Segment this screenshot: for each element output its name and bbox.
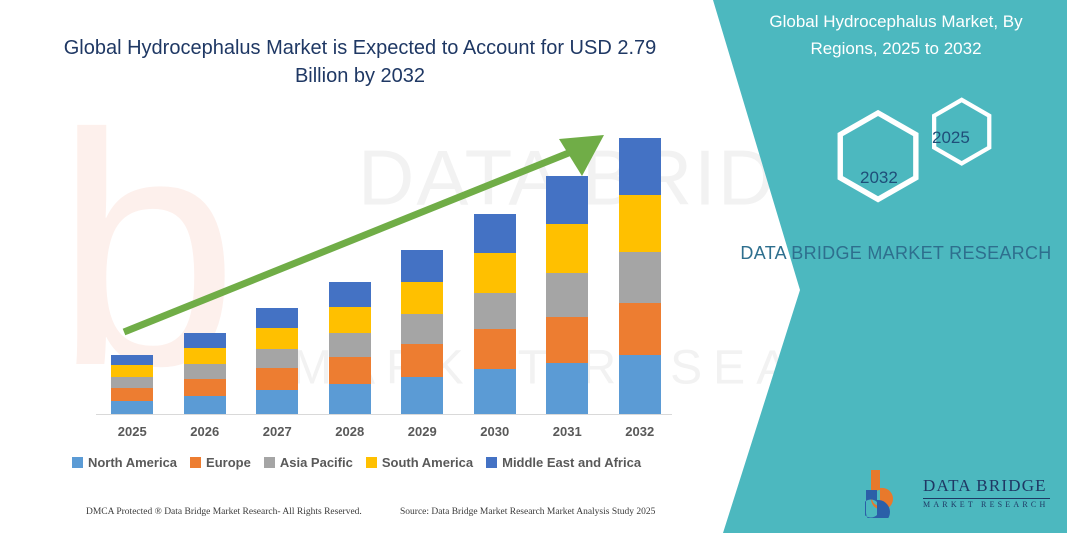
bar-segment[interactable]	[619, 195, 661, 252]
bar-segment[interactable]	[474, 329, 516, 369]
logo-divider	[923, 498, 1050, 499]
legend-item[interactable]: Asia Pacific	[264, 455, 353, 470]
bar-segment[interactable]	[111, 365, 153, 377]
chart-x-axis-line	[96, 414, 672, 415]
legend-item[interactable]: South America	[366, 455, 473, 470]
bar-segment[interactable]	[111, 388, 153, 401]
bar-column-2032[interactable]	[619, 138, 661, 415]
hexagon-label-2032: 2032	[860, 168, 898, 188]
chart-panel: Global Hydrocephalus Market is Expected …	[0, 0, 713, 533]
bar-column-2029[interactable]	[401, 250, 443, 415]
chart-legend: North AmericaEuropeAsia PacificSouth Ame…	[0, 455, 713, 470]
bar-segment[interactable]	[619, 252, 661, 302]
bar-segment[interactable]	[256, 328, 298, 349]
bar-segment[interactable]	[401, 314, 443, 344]
bar-segment[interactable]	[474, 253, 516, 292]
logo-title: DATA BRIDGE	[923, 476, 1047, 496]
panel-brand-text: DATA BRIDGE MARKET RESEARCH	[740, 240, 1052, 267]
hexagon-label-2025: 2025	[932, 128, 970, 148]
bar-column-2031[interactable]	[546, 176, 588, 415]
right-panel-content: Global Hydrocephalus Market, By Regions,…	[740, 0, 1067, 533]
data-bridge-logo: DATA BRIDGE MARKET RESEARCH	[865, 468, 1065, 522]
footer-source-note: Source: Data Bridge Market Research Mark…	[400, 507, 655, 517]
bar-segment[interactable]	[184, 396, 226, 415]
chart-plot-area	[96, 120, 676, 415]
bar-segment[interactable]	[256, 349, 298, 368]
bar-segment[interactable]	[619, 303, 661, 355]
chart-title: Global Hydrocephalus Market is Expected …	[60, 34, 660, 90]
logo-subtitle: MARKET RESEARCH	[923, 500, 1048, 509]
x-axis-label-2026: 2026	[169, 424, 241, 439]
x-axis-label-2028: 2028	[314, 424, 386, 439]
legend-label: North America	[88, 455, 177, 470]
legend-item[interactable]: North America	[72, 455, 177, 470]
bar-segment[interactable]	[184, 379, 226, 396]
bar-column-2028[interactable]	[329, 282, 371, 415]
bar-column-2025[interactable]	[111, 355, 153, 415]
legend-label: South America	[382, 455, 473, 470]
x-axis-label-2030: 2030	[459, 424, 531, 439]
bar-segment[interactable]	[546, 273, 588, 317]
bar-segment[interactable]	[546, 363, 588, 415]
legend-label: Asia Pacific	[280, 455, 353, 470]
bar-segment[interactable]	[474, 369, 516, 415]
legend-label: Middle East and Africa	[502, 455, 641, 470]
x-axis-label-2031: 2031	[531, 424, 603, 439]
x-axis-label-2025: 2025	[96, 424, 168, 439]
bar-segment[interactable]	[474, 214, 516, 253]
bar-segment[interactable]	[546, 176, 588, 224]
bar-segment[interactable]	[184, 333, 226, 348]
bar-segment[interactable]	[329, 307, 371, 333]
x-axis-label-2027: 2027	[241, 424, 313, 439]
bar-segment[interactable]	[474, 293, 516, 329]
legend-item[interactable]: Middle East and Africa	[486, 455, 641, 470]
footer-dmca-notice: DMCA Protected ® Data Bridge Market Rese…	[86, 507, 362, 517]
bar-segment[interactable]	[401, 344, 443, 377]
bar-column-2030[interactable]	[474, 214, 516, 415]
bar-segment[interactable]	[546, 317, 588, 363]
bar-segment[interactable]	[329, 357, 371, 384]
bar-column-2027[interactable]	[256, 308, 298, 415]
bar-segment[interactable]	[401, 377, 443, 415]
x-axis-label-2029: 2029	[386, 424, 458, 439]
bar-segment[interactable]	[184, 348, 226, 364]
panel-title: Global Hydrocephalus Market, By Regions,…	[740, 8, 1052, 62]
bar-segment[interactable]	[329, 384, 371, 415]
legend-swatch-icon	[72, 457, 83, 468]
bar-segment[interactable]	[111, 377, 153, 388]
bar-segment[interactable]	[256, 368, 298, 390]
bar-segment[interactable]	[256, 308, 298, 328]
legend-swatch-icon	[264, 457, 275, 468]
bar-segment[interactable]	[329, 333, 371, 357]
chart-x-axis-labels: 20252026202720282029203020312032	[96, 424, 676, 444]
hexagon-outlines-icon	[820, 90, 1020, 205]
bar-column-2026[interactable]	[184, 333, 226, 415]
hexagon-badges: 2025 2032	[820, 90, 1020, 205]
bar-segment[interactable]	[184, 364, 226, 379]
bar-segment[interactable]	[619, 355, 661, 415]
chart-footer: DMCA Protected ® Data Bridge Market Rese…	[0, 507, 713, 527]
bar-segment[interactable]	[619, 138, 661, 195]
x-axis-label-2032: 2032	[604, 424, 676, 439]
legend-label: Europe	[206, 455, 251, 470]
bar-segment[interactable]	[546, 224, 588, 272]
bar-segment[interactable]	[111, 355, 153, 365]
legend-swatch-icon	[366, 457, 377, 468]
bar-segment[interactable]	[401, 250, 443, 281]
legend-swatch-icon	[190, 457, 201, 468]
bar-segment[interactable]	[329, 282, 371, 307]
bar-segment[interactable]	[401, 282, 443, 314]
logo-mark-icon	[865, 468, 921, 518]
bar-segment[interactable]	[111, 401, 153, 415]
bar-segment[interactable]	[256, 390, 298, 415]
legend-swatch-icon	[486, 457, 497, 468]
legend-item[interactable]: Europe	[190, 455, 251, 470]
